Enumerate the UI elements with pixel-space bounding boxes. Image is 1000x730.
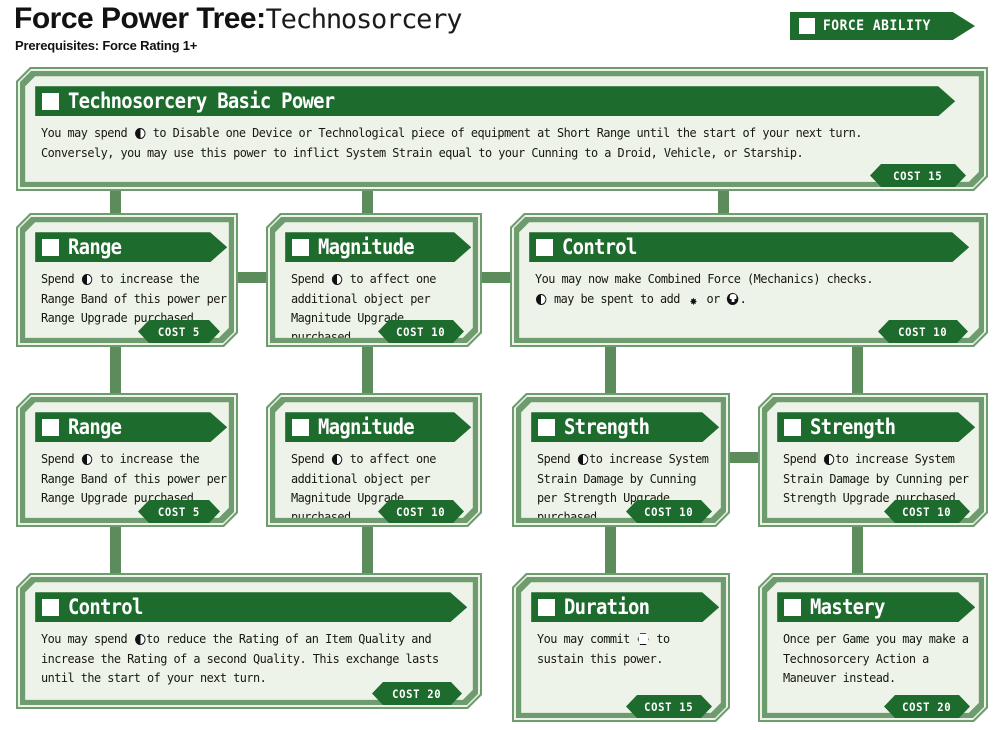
force-point-icon: [332, 454, 342, 465]
card-body-text: You may commit to sustain this power.: [537, 629, 719, 668]
force-point-icon: [82, 454, 92, 465]
cost-badge: COST 10: [878, 320, 968, 343]
force-point-icon: [824, 454, 834, 465]
card-title: Control: [68, 595, 143, 619]
cost-label: COST 10: [396, 325, 445, 339]
card-header: Control: [529, 232, 969, 262]
card-body-text: Spend to increase the Range Band of this…: [41, 449, 227, 507]
talent-card-technosorcery-basic-power[interactable]: Technosorcery Basic PowerYou may spend t…: [16, 67, 988, 191]
card-face: MasteryOnce per Game you may make a Tech…: [767, 582, 979, 713]
talent-card-control-2[interactable]: ControlYou may spend to reduce the Ratin…: [16, 573, 482, 709]
page-title: Force Power Tree:Technosorcery: [14, 4, 461, 34]
white-square-icon: [536, 239, 553, 256]
card-body-text: Spend to increase System Strain Damage b…: [783, 449, 973, 507]
white-square-icon: [292, 239, 309, 256]
white-square-icon: [538, 419, 555, 436]
cost-badge: COST 20: [372, 682, 462, 705]
card-title: Control: [562, 235, 637, 259]
talent-card-magnitude-1[interactable]: MagnitudeSpend to affect one additional …: [266, 213, 482, 347]
force-ability-label: FORCE ABILITY: [823, 18, 931, 34]
card-header: Magnitude: [285, 412, 471, 442]
force-point-icon: [332, 274, 342, 285]
cost-badge: COST 5: [138, 320, 220, 343]
card-face: Technosorcery Basic PowerYou may spend t…: [25, 76, 979, 182]
white-square-icon: [538, 599, 555, 616]
success-icon: ✸: [688, 296, 699, 308]
talent-card-magnitude-2[interactable]: MagnitudeSpend to affect one additional …: [266, 393, 482, 527]
card-face: DurationYou may commit to sustain this p…: [521, 582, 721, 713]
advantage-icon: [727, 293, 738, 305]
card-body-text: You may spend to Disable one Device or T…: [41, 123, 925, 162]
card-title: Range: [68, 235, 121, 259]
force-power-tree-page: Force Power Tree:Technosorcery Prerequis…: [0, 0, 1000, 730]
cost-label: COST 10: [898, 325, 947, 339]
cost-badge: COST 15: [870, 164, 966, 187]
card-header: Technosorcery Basic Power: [35, 86, 955, 116]
card-header: Range: [35, 412, 227, 442]
force-ability-banner: FORCE ABILITY: [790, 12, 975, 40]
prerequisites-text: Prerequisites: Force Rating 1+: [15, 38, 197, 53]
card-title: Strength: [810, 415, 895, 439]
card-header: Duration: [531, 592, 719, 622]
cost-badge: COST 5: [138, 500, 220, 523]
cost-badge: COST 10: [884, 500, 970, 523]
cost-label: COST 10: [902, 505, 951, 519]
talent-card-range-2[interactable]: RangeSpend to increase the Range Band of…: [16, 393, 238, 527]
white-square-icon: [784, 419, 801, 436]
white-square-icon: [42, 419, 59, 436]
card-inner-outline: Technosorcery Basic PowerYou may spend t…: [20, 71, 984, 187]
cost-badge: COST 10: [378, 500, 464, 523]
card-title: Range: [68, 415, 121, 439]
cost-label: COST 10: [644, 505, 693, 519]
force-point-icon: [135, 634, 145, 645]
card-title: Magnitude: [318, 235, 414, 259]
card-title: Mastery: [810, 595, 885, 619]
talent-card-strength-1[interactable]: StrengthSpend to increase System Strain …: [512, 393, 730, 527]
page-title-power-name: Technosorcery: [266, 4, 462, 35]
card-header: Mastery: [777, 592, 975, 622]
talent-card-strength-2[interactable]: StrengthSpend to increase System Strain …: [758, 393, 988, 527]
card-header: Strength: [777, 412, 975, 442]
cost-label: COST 20: [902, 700, 951, 714]
force-point-icon: [135, 128, 145, 139]
card-header: Magnitude: [285, 232, 471, 262]
cost-label: COST 10: [396, 505, 445, 519]
white-square-icon: [42, 93, 59, 110]
cost-badge: COST 10: [378, 320, 464, 343]
force-die-icon: [638, 633, 649, 645]
card-title: Strength: [564, 415, 649, 439]
force-point-icon: [82, 274, 92, 285]
talent-card-mastery-1[interactable]: MasteryOnce per Game you may make a Tech…: [758, 573, 988, 722]
card-header: Control: [35, 592, 467, 622]
card-header: Range: [35, 232, 227, 262]
card-body-text: Spend to increase the Range Band of this…: [41, 269, 227, 327]
card-title: Duration: [564, 595, 649, 619]
card-body-text: You may spend to reduce the Rating of an…: [41, 629, 453, 687]
card-title: Magnitude: [318, 415, 414, 439]
cost-label: COST 15: [893, 169, 942, 183]
card-body-text: You may now make Combined Force (Mechani…: [535, 269, 953, 308]
white-square-icon: [799, 18, 815, 34]
talent-card-control-1[interactable]: ControlYou may now make Combined Force (…: [510, 213, 988, 347]
talent-card-range-1[interactable]: RangeSpend to increase the Range Band of…: [16, 213, 238, 347]
cost-label: COST 15: [644, 700, 693, 714]
force-point-icon: [578, 454, 588, 465]
cost-label: COST 5: [158, 505, 200, 519]
cost-label: COST 5: [158, 325, 200, 339]
white-square-icon: [292, 419, 309, 436]
talent-card-duration-1[interactable]: DurationYou may commit to sustain this p…: [512, 573, 730, 722]
cost-label: COST 20: [392, 687, 441, 701]
card-body-text: Once per Game you may make a Technosorce…: [783, 629, 973, 687]
force-point-icon: [536, 294, 546, 305]
card-outline: Technosorcery Basic PowerYou may spend t…: [18, 69, 986, 189]
cost-badge: COST 10: [626, 500, 712, 523]
page-title-bold: Force Power Tree:: [14, 2, 266, 35]
white-square-icon: [784, 599, 801, 616]
card-header: Strength: [531, 412, 719, 442]
white-square-icon: [42, 599, 59, 616]
card-title: Technosorcery Basic Power: [68, 89, 334, 113]
cost-badge: COST 15: [626, 695, 712, 718]
cost-badge: COST 20: [884, 695, 970, 718]
white-square-icon: [42, 239, 59, 256]
